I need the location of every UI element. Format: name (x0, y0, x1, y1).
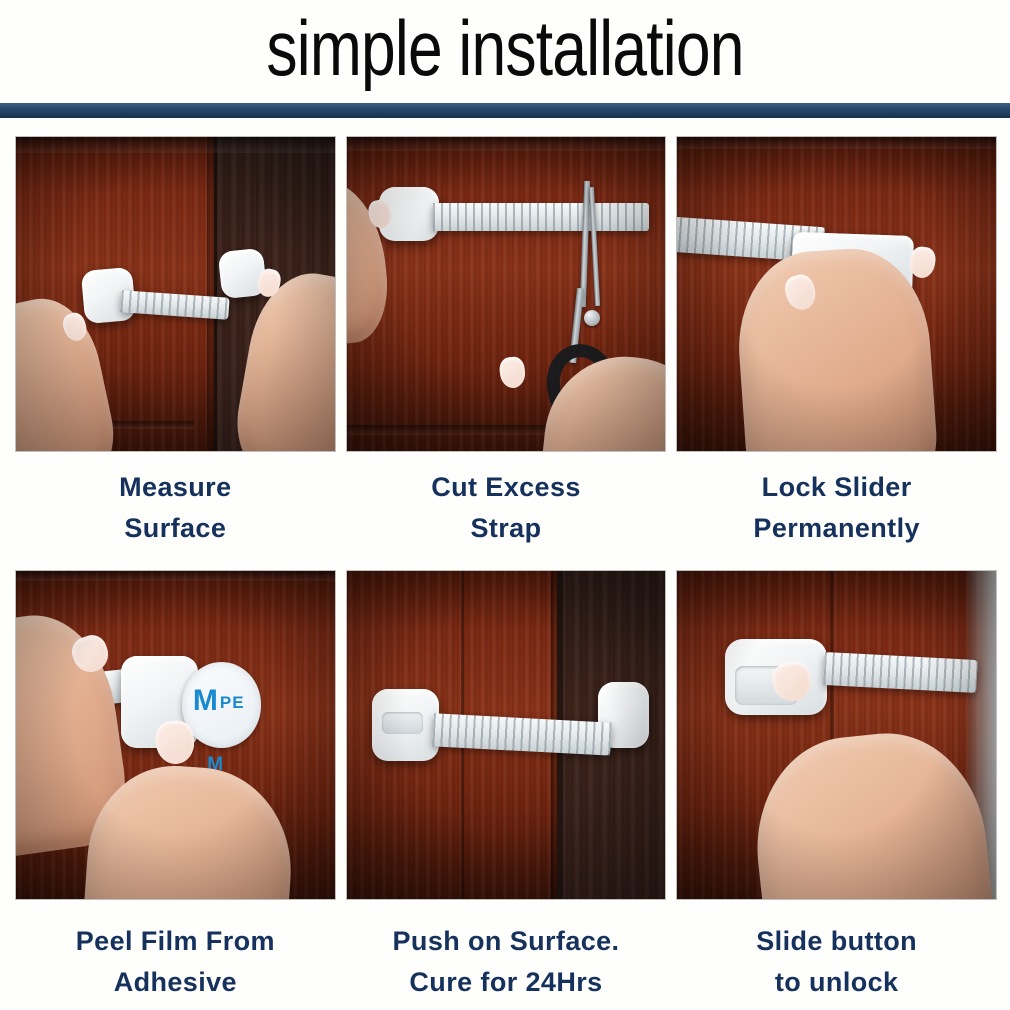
title-divider-rule (0, 103, 1010, 118)
step-caption-2: Cut Excess Strap (431, 467, 581, 549)
step-card-5: Push on Surface. Cure for 24Hrs (347, 571, 666, 1005)
step-photo-push-on-surface (347, 571, 666, 899)
step-caption-3: Lock Slider Permanently (753, 467, 919, 549)
photo-vignette (16, 137, 335, 451)
photo-vignette (347, 571, 666, 899)
step-photo-measure-surface (16, 137, 335, 451)
step-card-4: M PE M Peel Film From Adhesive (16, 571, 335, 1005)
step-caption-5: Push on Surface. Cure for 24Hrs (393, 921, 620, 1003)
photo-vignette (347, 137, 666, 451)
step-card-2: Cut Excess Strap (347, 137, 666, 571)
page-title: simple installation (101, 0, 909, 98)
step-card-1: Measure Surface (16, 137, 335, 571)
step-caption-6: Slide button to unlock (756, 921, 917, 1003)
step-photo-cut-excess-strap (347, 137, 666, 451)
step-caption-1: Measure Surface (119, 467, 231, 549)
step-photo-slide-button-unlock (677, 571, 996, 899)
photo-vignette (677, 571, 996, 899)
step-card-3: Lock Slider Permanently (677, 137, 996, 571)
photo-vignette (677, 137, 996, 451)
step-photo-lock-slider (677, 137, 996, 451)
step-photo-peel-film: M PE M (16, 571, 335, 899)
photo-vignette (16, 571, 335, 899)
step-caption-4: Peel Film From Adhesive (76, 921, 275, 1003)
header: simple installation (0, 0, 1010, 122)
installation-steps-grid: Measure Surface Cut Excess Strap (0, 122, 1010, 1010)
step-card-6: Slide button to unlock (677, 571, 996, 1005)
